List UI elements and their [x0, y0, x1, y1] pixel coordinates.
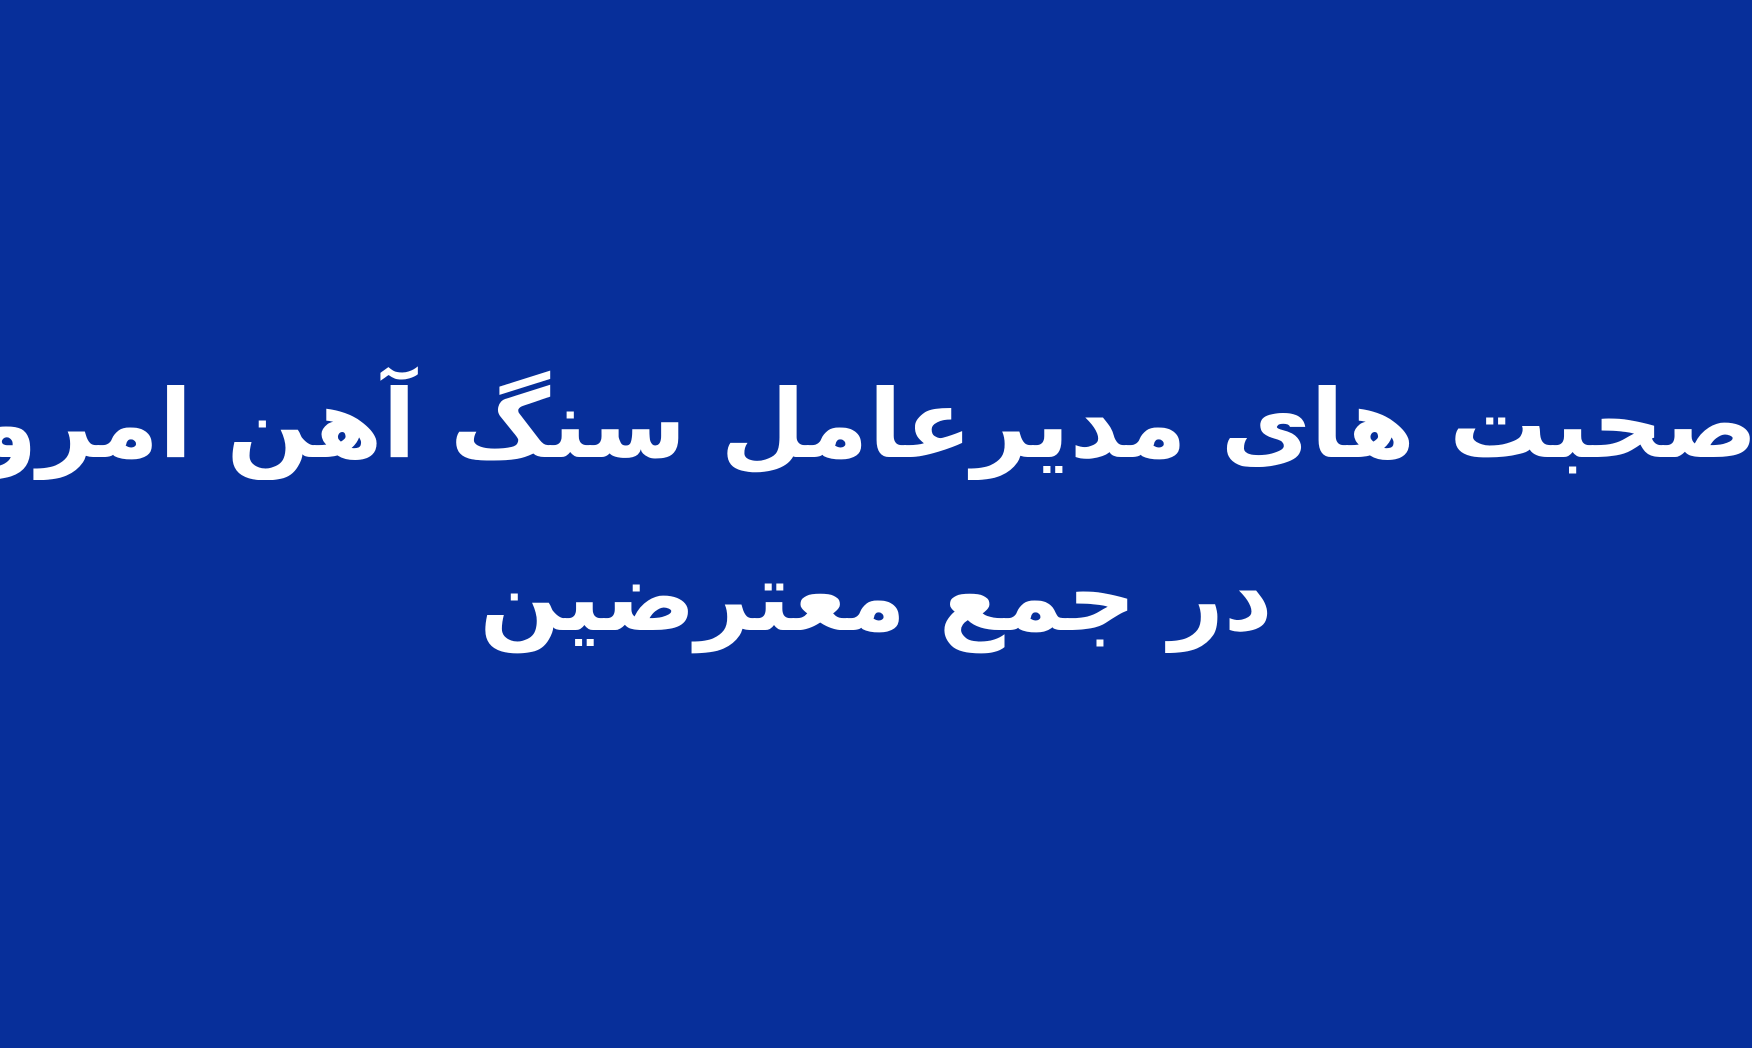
headline-line-1: صحبت های مدیرعامل سنگ آهن امروز صبح — [0, 378, 1752, 473]
headline-text-block: صحبت های مدیرعامل سنگ آهن امروز صبح در ج… — [0, 378, 1752, 646]
headline-line-2: در جمع معترضین — [20, 551, 1732, 646]
banner-canvas: صحبت های مدیرعامل سنگ آهن امروز صبح در ج… — [0, 0, 1752, 1048]
